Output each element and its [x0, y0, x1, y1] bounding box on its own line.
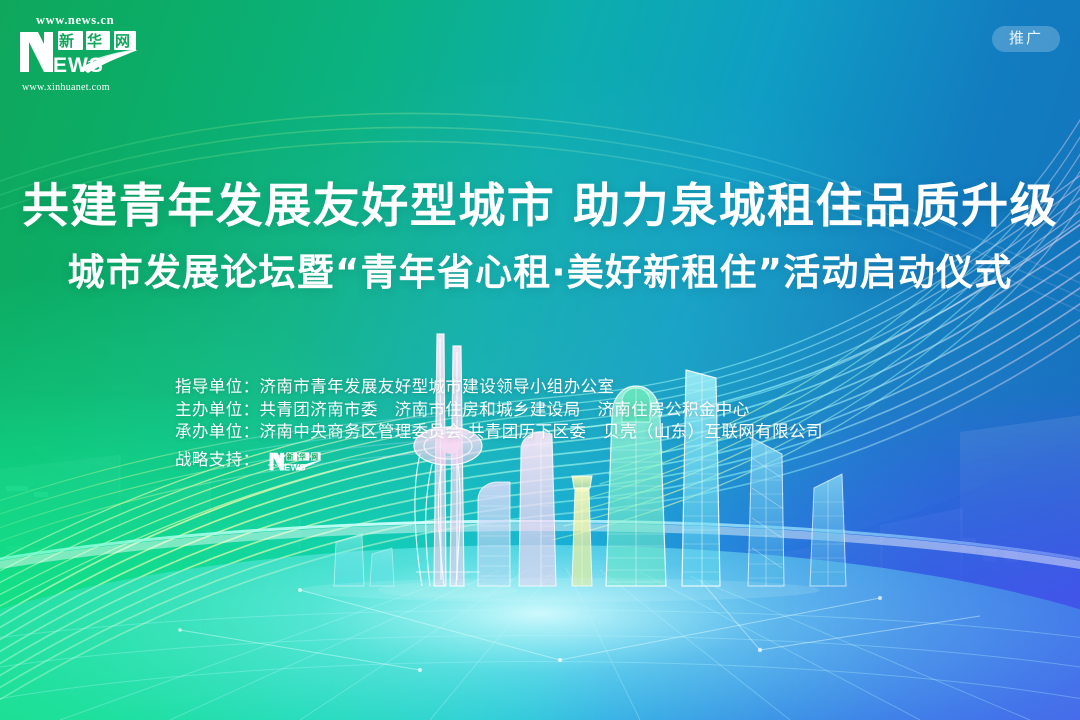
- svg-text:新: 新: [59, 32, 74, 50]
- mini-logo-url-bottom: www.xinhuanet.com: [268, 454, 308, 477]
- foreground-city-skyline: [0, 328, 1080, 628]
- banner-root: www.news.cn 新华网 EWS: [0, 0, 1080, 720]
- credit-line-organizer: 承办单位：济南中央商务区管理委员会 共青团历下区委 贝壳（山东）互联网有限公司: [175, 421, 823, 444]
- logo-url-top: www.news.cn: [36, 13, 114, 28]
- xinhua-logo-small[interactable]: www.news.cn 新华网 EWS: [266, 446, 328, 476]
- credits-block: 指导单位：济南市青年发展友好型城市建设领导小组办公室 主办单位：共青团济南市委 …: [175, 376, 823, 476]
- title-block: 共建青年发展友好型城市 助力泉城租住品质升级 城市发展论坛暨“青年省心租·美好新…: [0, 178, 1080, 297]
- credit-line-host: 主办单位：共青团济南市委 济南市住房和城乡建设局 济南住房公积金中心: [175, 399, 823, 422]
- xinhua-logo[interactable]: www.news.cn 新华网 EWS: [14, 10, 146, 94]
- svg-text:华: 华: [87, 32, 102, 50]
- promo-badge[interactable]: 推广: [992, 26, 1060, 52]
- page-subtitle: 城市发展论坛暨“青年省心租·美好新租住”活动启动仪式: [0, 250, 1080, 296]
- xinhua-logo-mark: 新华网 EWS: [18, 28, 142, 78]
- credit-line-strategic-support: 战略支持： www.news.cn 新华网: [175, 446, 823, 476]
- svg-text:网: 网: [115, 32, 130, 50]
- logo-url-bottom: www.xinhuanet.com: [22, 82, 110, 93]
- credit-label-strategic-support: 战略支持：: [175, 449, 260, 472]
- credit-line-guidance: 指导单位：济南市青年发展友好型城市建设领导小组办公室: [175, 376, 823, 399]
- svg-text:网: 网: [311, 452, 318, 460]
- page-title: 共建青年发展友好型城市 助力泉城租住品质升级: [0, 178, 1080, 235]
